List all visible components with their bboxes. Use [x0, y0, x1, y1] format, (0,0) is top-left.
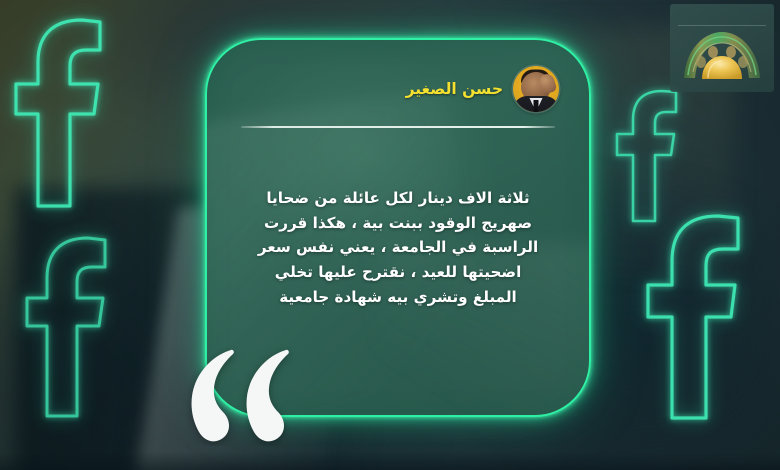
- bottom-shade: [0, 452, 780, 470]
- channel-logo-panel: [670, 4, 774, 92]
- avatar-tie: [534, 100, 539, 112]
- quote-graphic: حسن الصغير ثلاثة الاف دينار لكل عائلة من…: [0, 0, 780, 470]
- card-header: حسن الصغير: [237, 66, 559, 112]
- header-divider: [241, 126, 555, 128]
- logo-panel-rule: [678, 25, 766, 26]
- quote-text: ثلاثة الاف دينار لكل عائلة من ضحايا صهري…: [237, 186, 559, 309]
- speaker-name: حسن الصغير: [406, 80, 503, 98]
- channel-logo-icon: [679, 28, 765, 84]
- avatar: [513, 66, 559, 112]
- quote-card: حسن الصغير ثلاثة الاف دينار لكل عائلة من…: [205, 38, 591, 417]
